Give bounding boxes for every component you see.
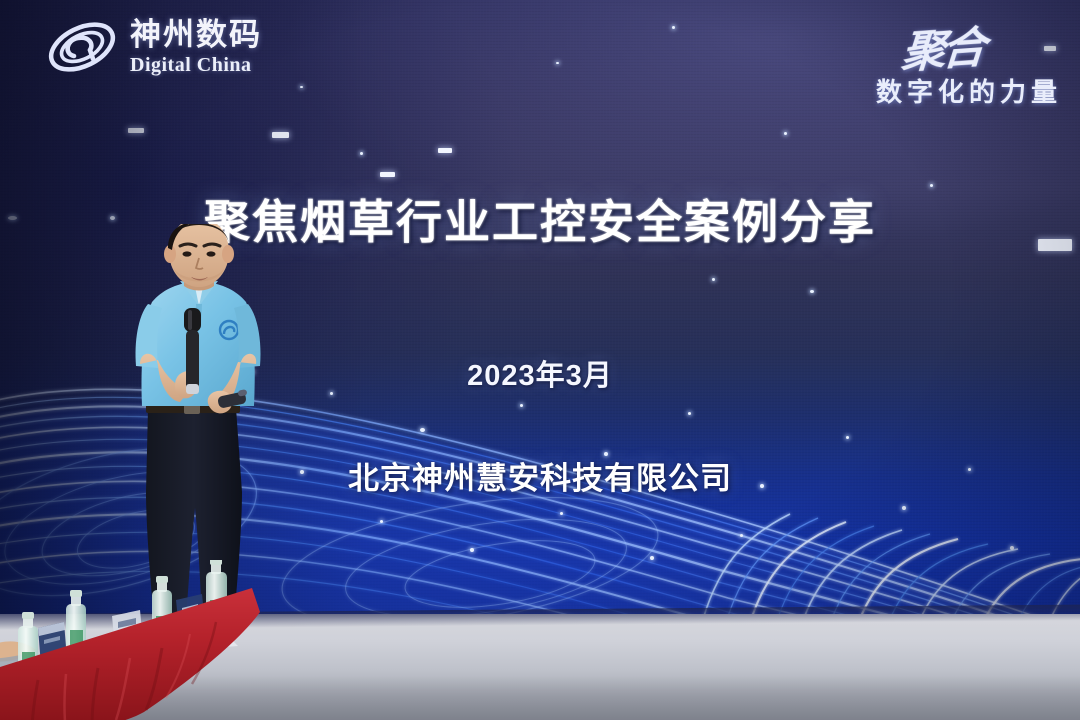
conference-stage-photo: 神州数码 Digital China 聚合 数字化的力量 聚焦烟草行业工控安全案… <box>0 0 1080 720</box>
event-campaign-logo: 聚合 数字化的力量 <box>876 14 1062 109</box>
logo-name-en: Digital China <box>130 55 262 75</box>
event-brush-text: 聚合 <box>899 11 984 80</box>
swirl-galaxy-logo-icon <box>44 16 120 78</box>
logo-name-cn: 神州数码 <box>130 19 262 50</box>
digital-china-logo: 神州数码 Digital China <box>44 16 262 78</box>
foreground-panel-table <box>0 560 294 720</box>
